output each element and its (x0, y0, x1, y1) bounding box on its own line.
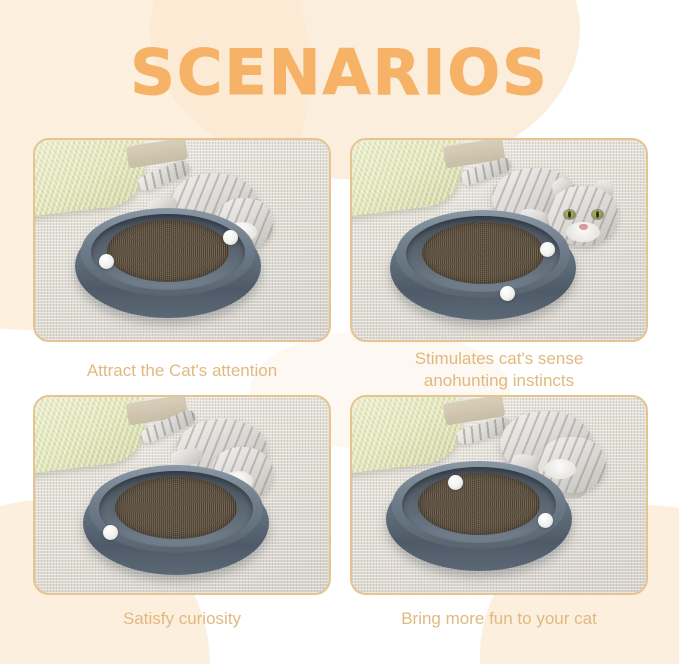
scratcher-cardboard-pad (115, 477, 237, 539)
cat-nose (579, 224, 588, 230)
scratcher-ball (540, 242, 555, 257)
scenario-caption-attract: Attract the Cat's attention (33, 360, 331, 382)
cat-facing-camera-with-scratcher-photo (350, 138, 648, 342)
scenarios-poster: SCENARIOS (0, 0, 679, 664)
scenario-caption-curiosity: Satisfy curiosity (33, 608, 331, 630)
scratcher-ball (103, 525, 118, 540)
scratcher-cardboard-pad (422, 222, 544, 284)
scenario-card-stimulate (350, 138, 648, 342)
cat-scratcher-toy (386, 455, 572, 575)
scenario-card-fun (350, 395, 648, 595)
scenario-caption-fun: Bring more fun to your cat (350, 608, 648, 630)
scenario-caption-stimulate: Stimulates cat's sense anohunting instin… (350, 348, 648, 392)
scratcher-cardboard-pad (107, 220, 229, 282)
scenario-card-curiosity (33, 395, 331, 595)
scratcher-ball (538, 513, 553, 528)
page-title: SCENARIOS (0, 42, 679, 104)
cat-scratcher-toy (75, 202, 261, 322)
cat-scratcher-toy (390, 204, 576, 324)
scenario-card-attract (33, 138, 331, 342)
scratcher-ball (500, 286, 515, 301)
cat-curled-behind-scratcher-photo (33, 395, 331, 595)
cat-resting-behind-scratcher-photo (350, 395, 648, 595)
scratcher-ball (99, 254, 114, 269)
cat-eye (592, 210, 603, 219)
scratcher-ball (223, 230, 238, 245)
scratcher-ball (448, 475, 463, 490)
cat-lying-beside-scratcher-photo (33, 138, 331, 342)
scratcher-cardboard-pad (418, 473, 540, 535)
cat-scratcher-toy (83, 459, 269, 579)
